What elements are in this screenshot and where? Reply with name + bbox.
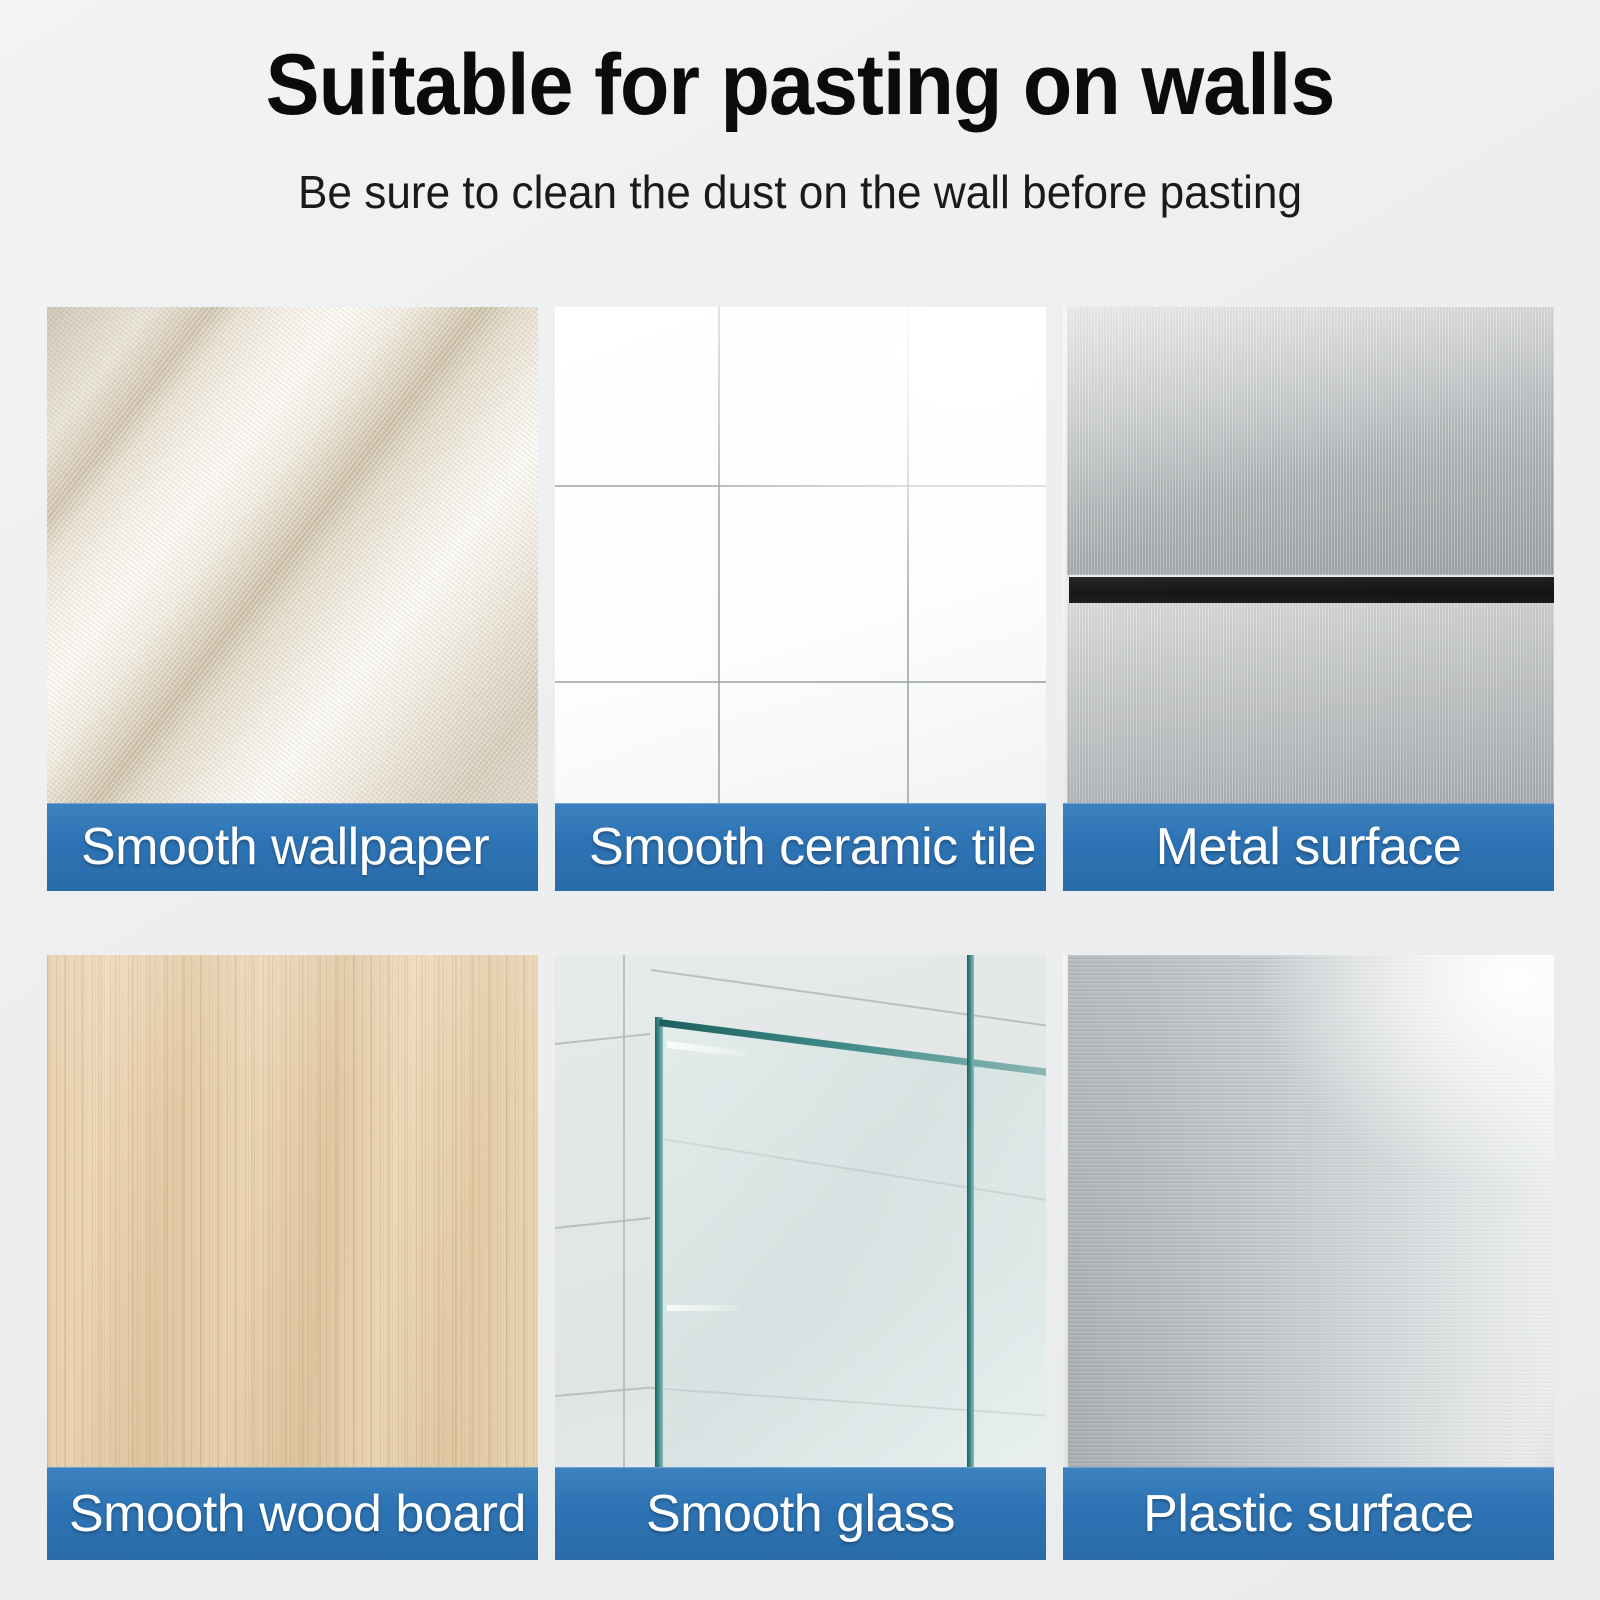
surface-label-text: Metal surface: [1063, 817, 1554, 877]
surface-card-smooth-wood-board[interactable]: Smooth wood board: [47, 955, 538, 1560]
fridge-handle-recess: [1069, 577, 1554, 603]
surface-card-smooth-ceramic-tile[interactable]: Smooth ceramic tile: [555, 307, 1046, 891]
surface-grid: Smooth wallpaper Smooth ceramic tile: [47, 307, 1555, 1560]
page-subtitle: Be sure to clean the dust on the wall be…: [32, 165, 1568, 219]
surface-label-bar: Smooth glass: [555, 1467, 1046, 1560]
surface-card-smooth-glass[interactable]: Smooth glass: [555, 955, 1046, 1560]
glass-pane-left-edge: [655, 1017, 663, 1467]
surface-label-text: Smooth wallpaper: [47, 817, 538, 877]
header: Suitable for pasting on walls Be sure to…: [0, 0, 1600, 290]
surface-label-text: Smooth wood board: [47, 1484, 538, 1544]
wall-grout-horizontal: [555, 1033, 651, 1045]
glass-highlight: [667, 1305, 737, 1311]
surface-label-text: Smooth ceramic tile: [555, 817, 1046, 877]
surface-card-plastic-surface[interactable]: Plastic surface: [1063, 955, 1554, 1560]
surface-label-bar: Smooth wallpaper: [47, 803, 538, 891]
infographic-page: Suitable for pasting on walls Be sure to…: [0, 0, 1600, 1600]
wall-grout-diagonal: [651, 969, 1046, 1028]
surface-card-smooth-wallpaper[interactable]: Smooth wallpaper: [47, 307, 538, 891]
page-title: Suitable for pasting on walls: [48, 36, 1552, 135]
wall-grout-horizontal: [555, 1217, 651, 1229]
surface-label-text: Plastic surface: [1063, 1484, 1554, 1544]
glass-pane: [659, 1017, 1046, 1467]
surface-label-text: Smooth glass: [555, 1484, 1046, 1544]
surface-card-metal-surface[interactable]: Metal surface: [1063, 307, 1554, 891]
surface-label-bar: Plastic surface: [1063, 1467, 1554, 1560]
glass-panel-joint-edge: [967, 955, 974, 1467]
surface-label-bar: Metal surface: [1063, 803, 1554, 891]
fridge-upper-door-panel: [1067, 307, 1554, 575]
surface-label-bar: Smooth wood board: [47, 1467, 538, 1560]
surface-label-bar: Smooth ceramic tile: [555, 803, 1046, 891]
wall-grout-horizontal: [555, 1387, 651, 1397]
